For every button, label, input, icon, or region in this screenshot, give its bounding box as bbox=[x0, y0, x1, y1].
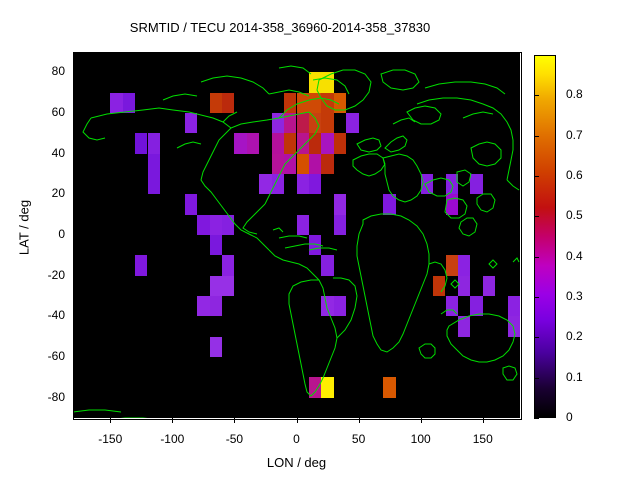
coastline-antarctica bbox=[73, 410, 519, 418]
coastline-africa bbox=[357, 214, 447, 358]
colorbar-tick-label: 0.3 bbox=[566, 289, 612, 303]
coastline-islands bbox=[273, 228, 519, 288]
colorbar-tick-label: 0.4 bbox=[566, 249, 612, 263]
colorbar-tick-mark bbox=[534, 95, 539, 96]
coastline-greenland-arctic bbox=[317, 70, 419, 110]
y-tick-label: -60 bbox=[25, 349, 65, 363]
y-tick-label: 60 bbox=[25, 105, 65, 119]
x-tick-mark bbox=[483, 418, 484, 423]
x-tick-label: 0 bbox=[267, 432, 327, 446]
x-tick-label: -100 bbox=[142, 432, 202, 446]
x-tick-label: 50 bbox=[329, 432, 389, 446]
coastline-south-america bbox=[289, 278, 357, 396]
x-tick-mark bbox=[172, 418, 173, 423]
y-tick-mark bbox=[73, 316, 78, 317]
y-tick-mark bbox=[73, 154, 78, 155]
colorbar-tick-mark bbox=[534, 337, 539, 338]
coastline-central-america bbox=[269, 236, 337, 280]
y-tick-label: 40 bbox=[25, 146, 65, 160]
coastline-asia bbox=[417, 82, 519, 236]
y-tick-mark bbox=[73, 235, 78, 236]
colorbar-tick-mark bbox=[534, 176, 539, 177]
x-tick-label: -50 bbox=[204, 432, 264, 446]
colorbar-tick-mark bbox=[534, 418, 539, 419]
y-tick-mark bbox=[73, 72, 78, 73]
colorbar-tick-mark bbox=[534, 378, 539, 379]
coastline-europe bbox=[353, 106, 471, 202]
x-tick-mark bbox=[359, 418, 360, 423]
y-tick-mark bbox=[73, 357, 78, 358]
x-tick-label: 100 bbox=[391, 432, 451, 446]
colorbar-tick-label: 0.2 bbox=[566, 329, 612, 343]
coastline-australia bbox=[441, 310, 517, 380]
colorbar bbox=[534, 55, 556, 418]
colorbar-tick-mark bbox=[534, 257, 539, 258]
y-tick-mark bbox=[73, 194, 78, 195]
x-tick-mark bbox=[297, 418, 298, 423]
y-tick-label: -40 bbox=[25, 308, 65, 322]
colorbar-tick-label: 0.7 bbox=[566, 128, 612, 142]
colorbar-gradient bbox=[535, 56, 555, 417]
y-tick-label: 80 bbox=[25, 64, 65, 78]
coastline-overlay bbox=[73, 52, 520, 418]
colorbar-tick-label: 0 bbox=[566, 410, 612, 424]
y-axis-label: LAT / deg bbox=[17, 168, 32, 288]
x-axis-label: LON / deg bbox=[73, 455, 520, 470]
y-tick-mark bbox=[73, 398, 78, 399]
y-tick-mark bbox=[73, 113, 78, 114]
plot-figure: SRMTID / TECU 2014-358_36960-2014-358_37… bbox=[0, 0, 640, 480]
colorbar-tick-mark bbox=[534, 136, 539, 137]
colorbar-tick-mark bbox=[534, 216, 539, 217]
x-tick-label: 150 bbox=[453, 432, 513, 446]
colorbar-tick-mark bbox=[534, 297, 539, 298]
colorbar-tick-label: 0.1 bbox=[566, 370, 612, 384]
x-tick-mark bbox=[421, 418, 422, 423]
coastline-paths bbox=[83, 66, 349, 250]
page-title: SRMTID / TECU 2014-358_36960-2014-358_37… bbox=[0, 20, 560, 35]
colorbar-tick-label: 0.5 bbox=[566, 208, 612, 222]
x-tick-label: -150 bbox=[80, 432, 140, 446]
y-tick-mark bbox=[73, 276, 78, 277]
y-tick-label: -80 bbox=[25, 390, 65, 404]
colorbar-tick-label: 0.8 bbox=[566, 87, 612, 101]
map-plot-area bbox=[73, 52, 520, 418]
x-tick-mark bbox=[110, 418, 111, 423]
colorbar-tick-label: 0.6 bbox=[566, 168, 612, 182]
x-tick-mark bbox=[234, 418, 235, 423]
